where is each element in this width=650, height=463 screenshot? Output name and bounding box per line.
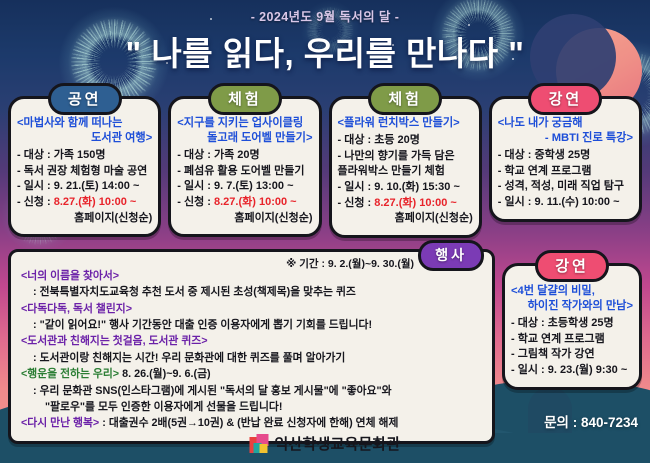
- event-item: : "같이 읽어요!" 행사 기간동안 대출 인증 이용자에게 뽑기 기회를 드…: [21, 317, 482, 333]
- contact-info: 문의 : 840-7234: [544, 411, 638, 431]
- card-detail-list: - 대상 : 중학생 25명- 학교 연계 프로그램- 성격, 적성, 미래 직…: [498, 148, 633, 210]
- card-title: <지구를 지키는 업사이클링돌고래 도어벨 만들기>: [177, 116, 312, 146]
- header-kicker: - 2024년도 9월 독서의 달 -: [0, 6, 650, 25]
- card-badge: 강연: [535, 250, 609, 282]
- card-title-line-2: 하이진 작가와의 만남>: [511, 299, 633, 314]
- event-item: <행운을 전하는 우리> 8. 26.(월)~9. 6.(금): [21, 366, 482, 382]
- card-detail-line: - 성격, 적성, 미래 직업 탐구: [498, 179, 633, 195]
- card-title-line-1: <마법사와 함께 떠나는: [17, 117, 122, 129]
- event-item: : 우리 문화관 SNS(인스타그램)에 게시된 "독서의 달 홍보 게시물"에…: [21, 383, 482, 399]
- program-card: 체험<지구를 지키는 업사이클링돌고래 도어벨 만들기>- 대상 : 가족 20…: [168, 96, 321, 237]
- event-item: : 전북특별자치도교육청 추천 도서 중 제시된 초성(책제목)을 맞추는 퀴즈: [21, 284, 482, 300]
- card-detail-line: - 대상 : 가족 20명: [177, 148, 312, 164]
- card-detail-line: - 학교 연계 프로그램: [498, 164, 633, 180]
- program-card: 체험<플라워 런치박스 만들기>- 대상 : 초등 20명- 나만의 향기를 가…: [329, 96, 482, 238]
- poster-header: - 2024년도 9월 독서의 달 - " 나를 읽다, 우리를 만나다 ": [0, 0, 650, 75]
- card-detail-line: - 일시 : 9. 21.(토) 14:00 ~: [17, 179, 152, 195]
- card-title-line-1: <지구를 지키는 업사이클링: [177, 117, 303, 129]
- card-title-line-1: <플라워 런치박스 만들기>: [338, 117, 460, 129]
- card-title: <4번 달걀의 비밀, 하이진 작가와의 만남>: [511, 284, 633, 314]
- card-detail-list: - 대상 : 가족 150명- 독서 권장 체험형 마술 공연- 일시 : 9.…: [17, 148, 152, 226]
- card-title-line-1: <4번 달걀의 비밀,: [511, 285, 595, 297]
- card-detail-line: - 일시 : 9. 11.(수) 10:00 ~: [498, 195, 633, 211]
- card-detail-line: - 폐섬유 활용 도어벨 만들기: [177, 164, 312, 180]
- card-detail-line: - 독서 권장 체험형 마술 공연: [17, 164, 152, 180]
- card-detail-line: - 일시 : 9. 10.(화) 15:30 ~: [338, 180, 473, 196]
- card-detail-line: - 그림책 작가 강연: [511, 347, 633, 363]
- card-badge: 공연: [48, 83, 122, 115]
- card-detail-line: - 신청 : 8.27.(화) 10:00 ~: [338, 196, 473, 212]
- program-card-row: 공연<마법사와 함께 떠나는도서관 여행>- 대상 : 가족 150명- 독서 …: [0, 75, 650, 238]
- card-detail-line: - 신청 : 8.27.(화) 10:00 ~: [17, 195, 152, 211]
- card-detail-list: - 대상 : 초등 20명- 나만의 향기를 가득 담은플라워박스 만들기 체험…: [338, 133, 473, 227]
- event-item-suffix: 8. 26.(월)~9. 6.(금): [119, 368, 211, 380]
- card-badge: 체험: [208, 83, 282, 115]
- event-badge: 행사: [418, 240, 484, 271]
- card-title: <플라워 런치박스 만들기>: [338, 116, 473, 131]
- card-detail-list: - 대상 : 초등학생 25명- 학교 연계 프로그램- 그림책 작가 강연- …: [511, 316, 633, 378]
- program-card: 강연<나도 내가 궁금해- MBTI 진로 특강>- 대상 : 중학생 25명-…: [489, 96, 642, 222]
- organization-block: 익산학생교육문화관: [249, 433, 400, 454]
- card-title-line-2: 돌고래 도어벨 만들기>: [177, 131, 312, 146]
- card-detail-line: - 대상 : 초등 20명: [338, 133, 473, 149]
- card-detail-line: - 일시 : 9. 23.(월) 9:30 ~: [511, 363, 633, 379]
- card-detail-line: 플라워박스 만들기 체험: [338, 164, 473, 180]
- card-detail-line: - 대상 : 가족 150명: [17, 148, 152, 164]
- card-badge: 체험: [368, 83, 442, 115]
- page-title: " 나를 읽다, 우리를 만나다 ": [0, 27, 650, 75]
- event-item: <다독다독, 독서 챌린지>: [21, 301, 482, 317]
- card-detail-line: 홈페이지(신청순): [177, 211, 312, 227]
- event-item: <도서관과 친해지는 첫걸음, 도서관 퀴즈>: [21, 333, 482, 349]
- card-detail-line: 홈페이지(신청순): [338, 211, 473, 227]
- card-detail-list: - 대상 : 가족 20명- 폐섬유 활용 도어벨 만들기- 일시 : 9. 7…: [177, 148, 312, 226]
- poster-root: - 2024년도 9월 독서의 달 - " 나를 읽다, 우리를 만나다 " 공…: [0, 0, 650, 463]
- card-title-line-2: - MBTI 진로 특강>: [498, 131, 633, 146]
- card-detail-line: - 대상 : 초등학생 25명: [511, 316, 633, 332]
- event-period: ※ 기간 : 9. 2.(월)~9. 30.(월): [286, 256, 414, 271]
- card-detail-line: 홈페이지(신청순): [17, 211, 152, 227]
- card-detail-line: - 일시 : 9. 7.(토) 13:00 ~: [177, 179, 312, 195]
- card-detail-line: - 나만의 향기를 가득 담은: [338, 149, 473, 165]
- poster-footer: 문의 : 840-7234 익산학생교육문화관: [0, 411, 650, 463]
- highlighted-date: 8.27.(화) 10:00 ~: [374, 197, 457, 209]
- card-badge: 강연: [528, 83, 602, 115]
- card-detail-line: - 신청 : 8.27.(화) 10:00 ~: [177, 195, 312, 211]
- organization-name: 익산학생교육문화관: [274, 433, 400, 454]
- highlighted-date: 8.27.(화) 10:00 ~: [214, 196, 297, 208]
- card-detail-line: - 대상 : 중학생 25명: [498, 148, 633, 164]
- card-title: <나도 내가 궁금해- MBTI 진로 특강>: [498, 116, 633, 146]
- card-detail-line: - 학교 연계 프로그램: [511, 332, 633, 348]
- card-title-line-2: 도서관 여행>: [17, 131, 152, 146]
- card-title-line-1: <나도 내가 궁금해: [498, 117, 583, 129]
- lecture-side-card: 강연 <4번 달걀의 비밀, 하이진 작가와의 만남> - 대상 : 초등학생 …: [502, 263, 642, 391]
- program-card: 공연<마법사와 함께 떠나는도서관 여행>- 대상 : 가족 150명- 독서 …: [8, 96, 161, 237]
- card-title: <마법사와 함께 떠나는도서관 여행>: [17, 116, 152, 146]
- event-item: : 도서관이랑 친해지는 시간! 우리 문화관에 대한 퀴즈를 풀며 알아가기: [21, 350, 482, 366]
- event-item-list: <너의 이름을 찾아서>: 전북특별자치도교육청 추천 도서 중 제시된 초성(…: [21, 268, 482, 432]
- highlighted-date: 8.27.(화) 10:00 ~: [54, 196, 137, 208]
- institution-logo-icon: [249, 434, 268, 453]
